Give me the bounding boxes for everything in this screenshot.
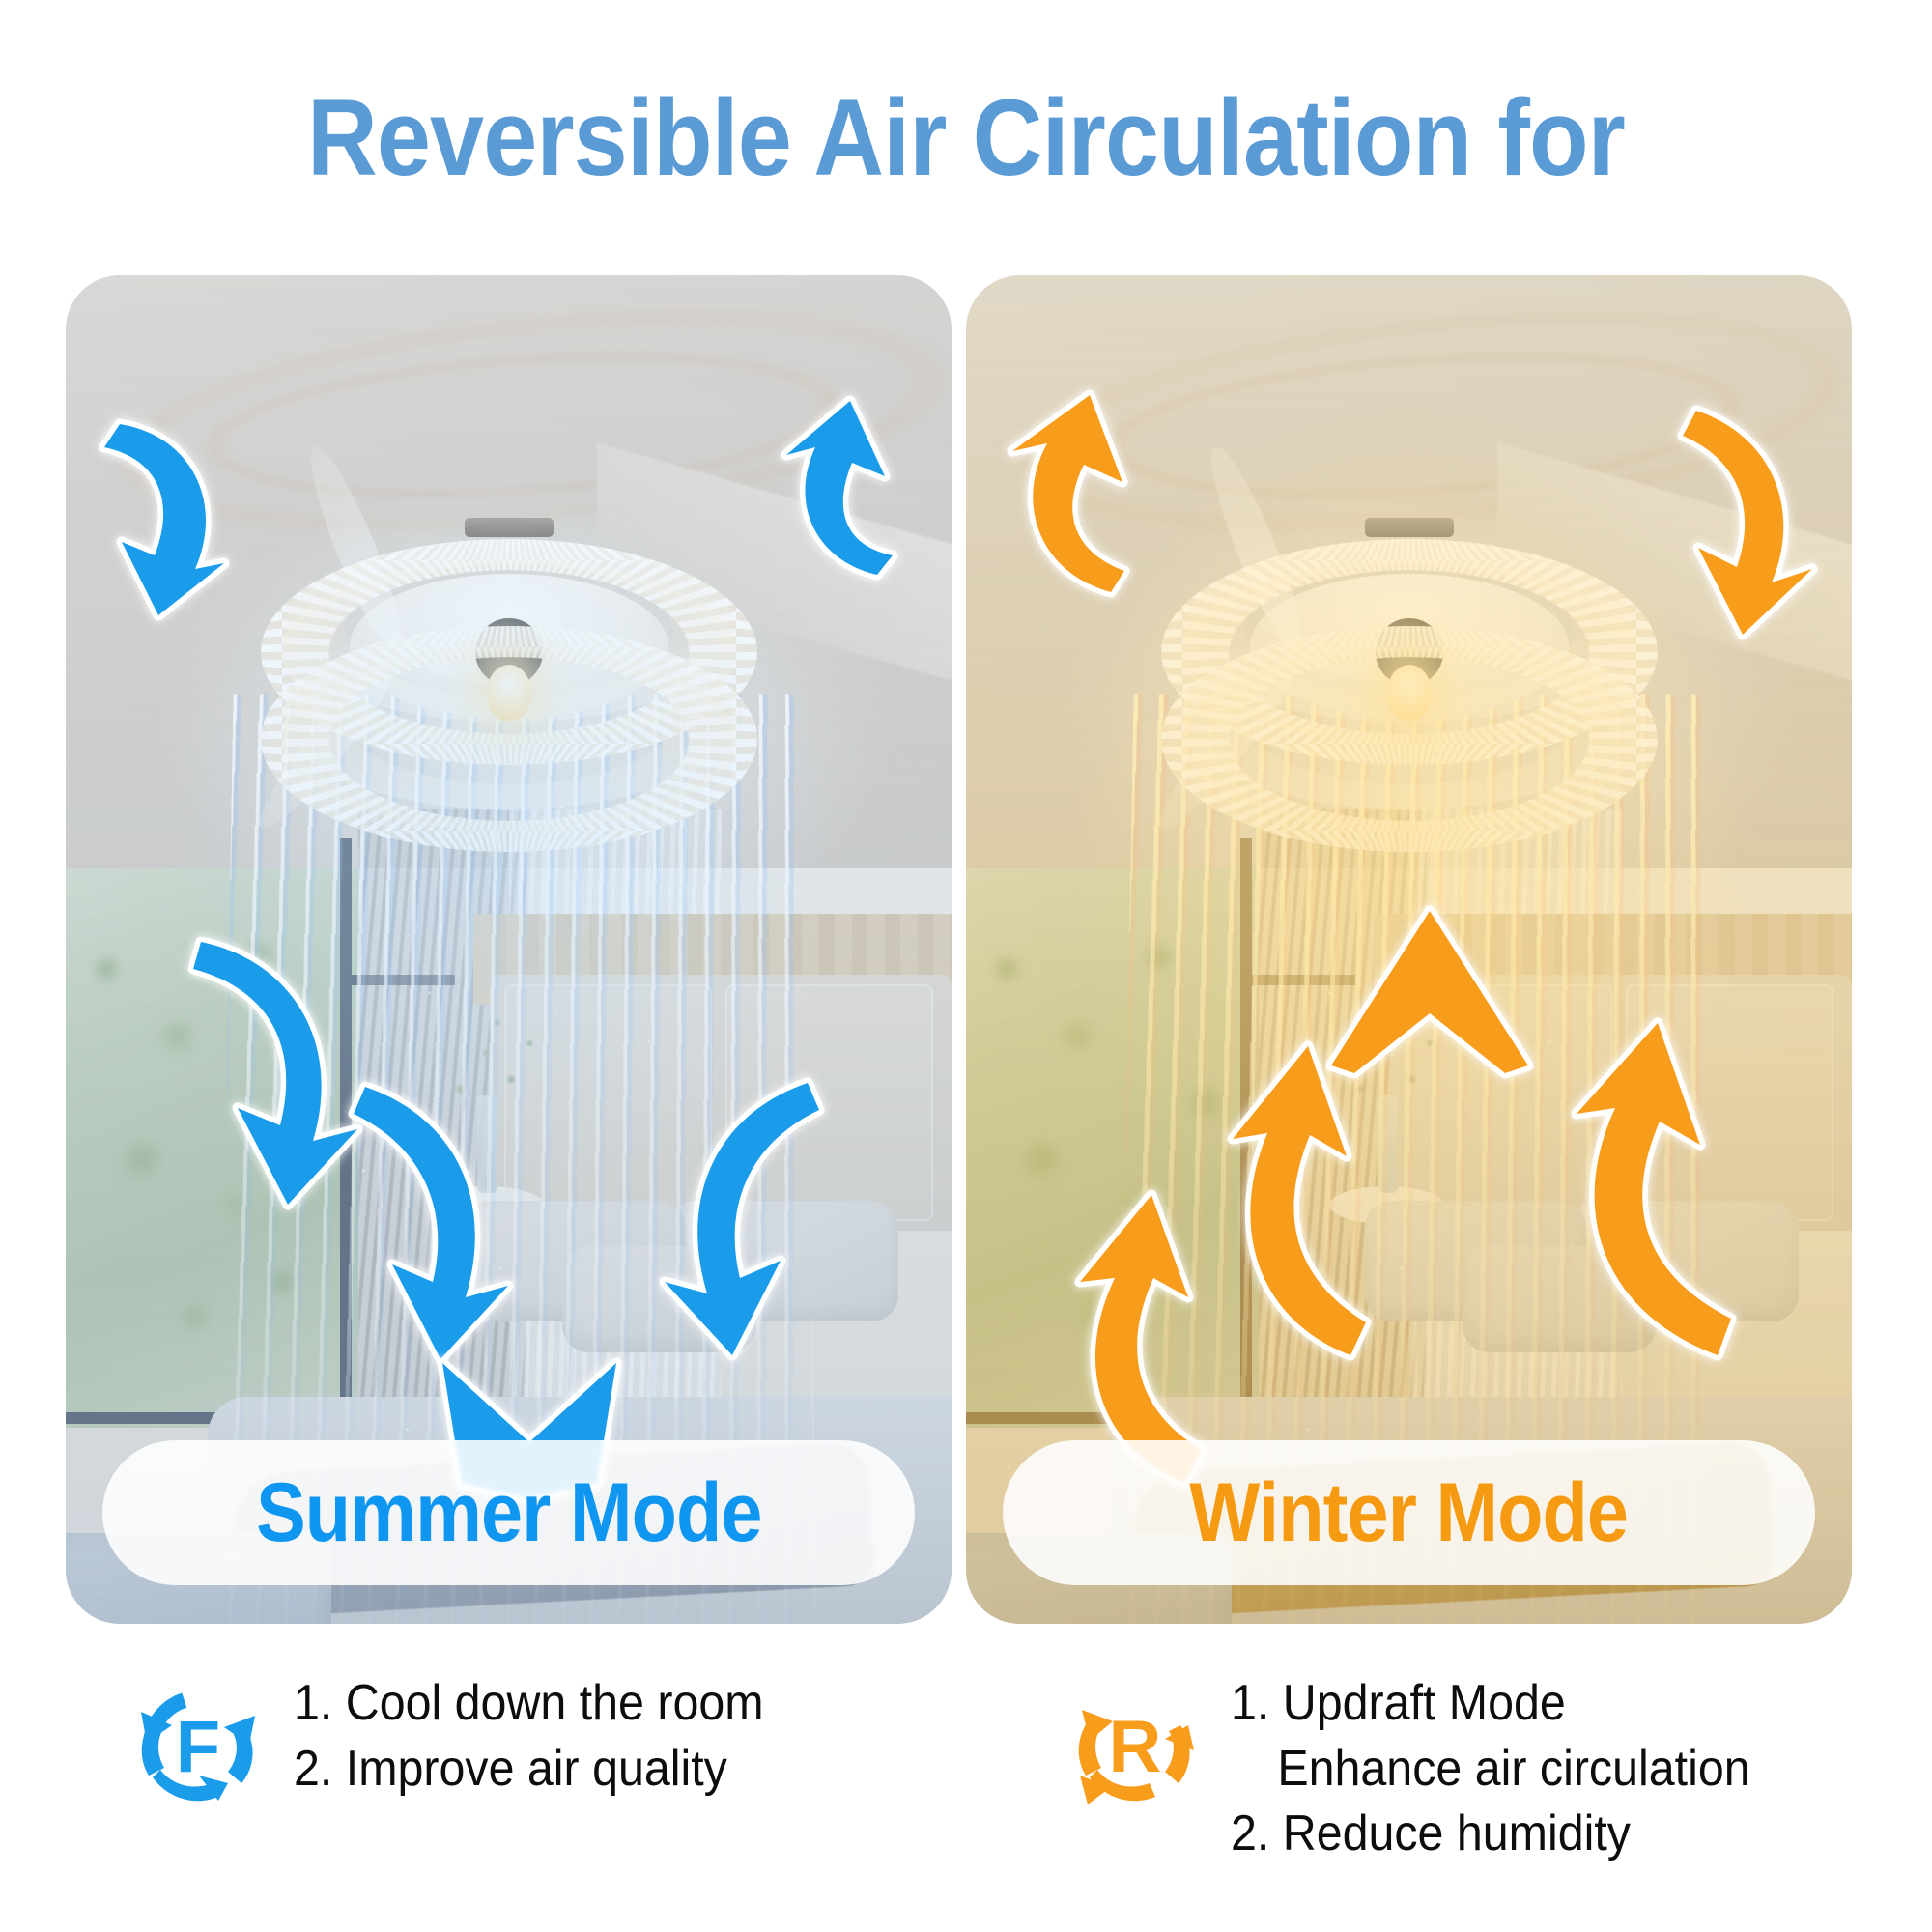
panel-summer-mode[interactable]: Summer Mode xyxy=(66,275,952,1624)
footer-winter-line-3: 2. Reduce humidity xyxy=(1231,1802,1750,1867)
fan-ceiling-mount xyxy=(465,518,554,537)
scene-winter xyxy=(966,275,1852,1624)
footer-winter-lines: 1. Updraft Mode Enhance air circulation … xyxy=(1231,1671,1750,1867)
footer: F 1. Cool down the room 2. Improve air q… xyxy=(0,1671,1932,1922)
footer-summer-lines: 1. Cool down the room 2. Improve air qua… xyxy=(294,1671,764,1802)
mode-label-summer: Summer Mode xyxy=(102,1440,915,1585)
svg-text:R: R xyxy=(1109,1706,1162,1788)
bed-headboard xyxy=(1391,975,1852,1232)
headboard-panel-right xyxy=(1626,984,1833,1221)
fan-ceiling-mount xyxy=(1365,518,1454,537)
window xyxy=(966,868,1259,1427)
mode-label-winter: Winter Mode xyxy=(1003,1440,1815,1585)
footer-summer-line-1: 1. Cool down the room xyxy=(294,1671,764,1737)
window-mullion-vertical xyxy=(1240,838,1252,1442)
window-foliage xyxy=(66,868,358,1427)
footer-winter-line-1: 1. Updraft Mode xyxy=(1231,1671,1750,1737)
light-bulb xyxy=(487,665,531,721)
page-title: Reversible Air Circulation for xyxy=(97,81,1835,195)
plant xyxy=(1338,1005,1453,1125)
window-foliage xyxy=(966,868,1259,1427)
footer-summer-line-2: 2. Improve air quality xyxy=(294,1737,764,1803)
ceiling-fan-fixture-winter xyxy=(1139,518,1680,808)
footer-winter-block: R 1. Updraft Mode Enhance air circulatio… xyxy=(1072,1671,1789,1867)
plant xyxy=(438,1005,553,1125)
footer-winter-line-2: Enhance air circulation xyxy=(1231,1737,1750,1803)
window xyxy=(66,868,358,1427)
scene-summer xyxy=(66,275,952,1624)
headboard-panel-right xyxy=(725,984,933,1221)
pillow-front xyxy=(1463,1246,1658,1351)
mode-label-winter-text: Winter Mode xyxy=(1190,1471,1629,1554)
reverse-rotation-icon: R xyxy=(1072,1683,1198,1808)
mode-label-summer-text: Summer Mode xyxy=(256,1471,761,1554)
window-mullion-vertical xyxy=(340,838,352,1442)
light-bulb xyxy=(1387,665,1432,721)
bed-headboard xyxy=(491,975,952,1232)
ceiling-fan-fixture-summer xyxy=(239,518,780,808)
svg-text:F: F xyxy=(176,1706,220,1788)
panel-winter-mode[interactable]: Winter Mode xyxy=(966,275,1852,1624)
pillow-front xyxy=(562,1246,757,1351)
forward-rotation-icon: F xyxy=(135,1683,261,1808)
footer-summer-block: F 1. Cool down the room 2. Improve air q… xyxy=(135,1671,799,1808)
